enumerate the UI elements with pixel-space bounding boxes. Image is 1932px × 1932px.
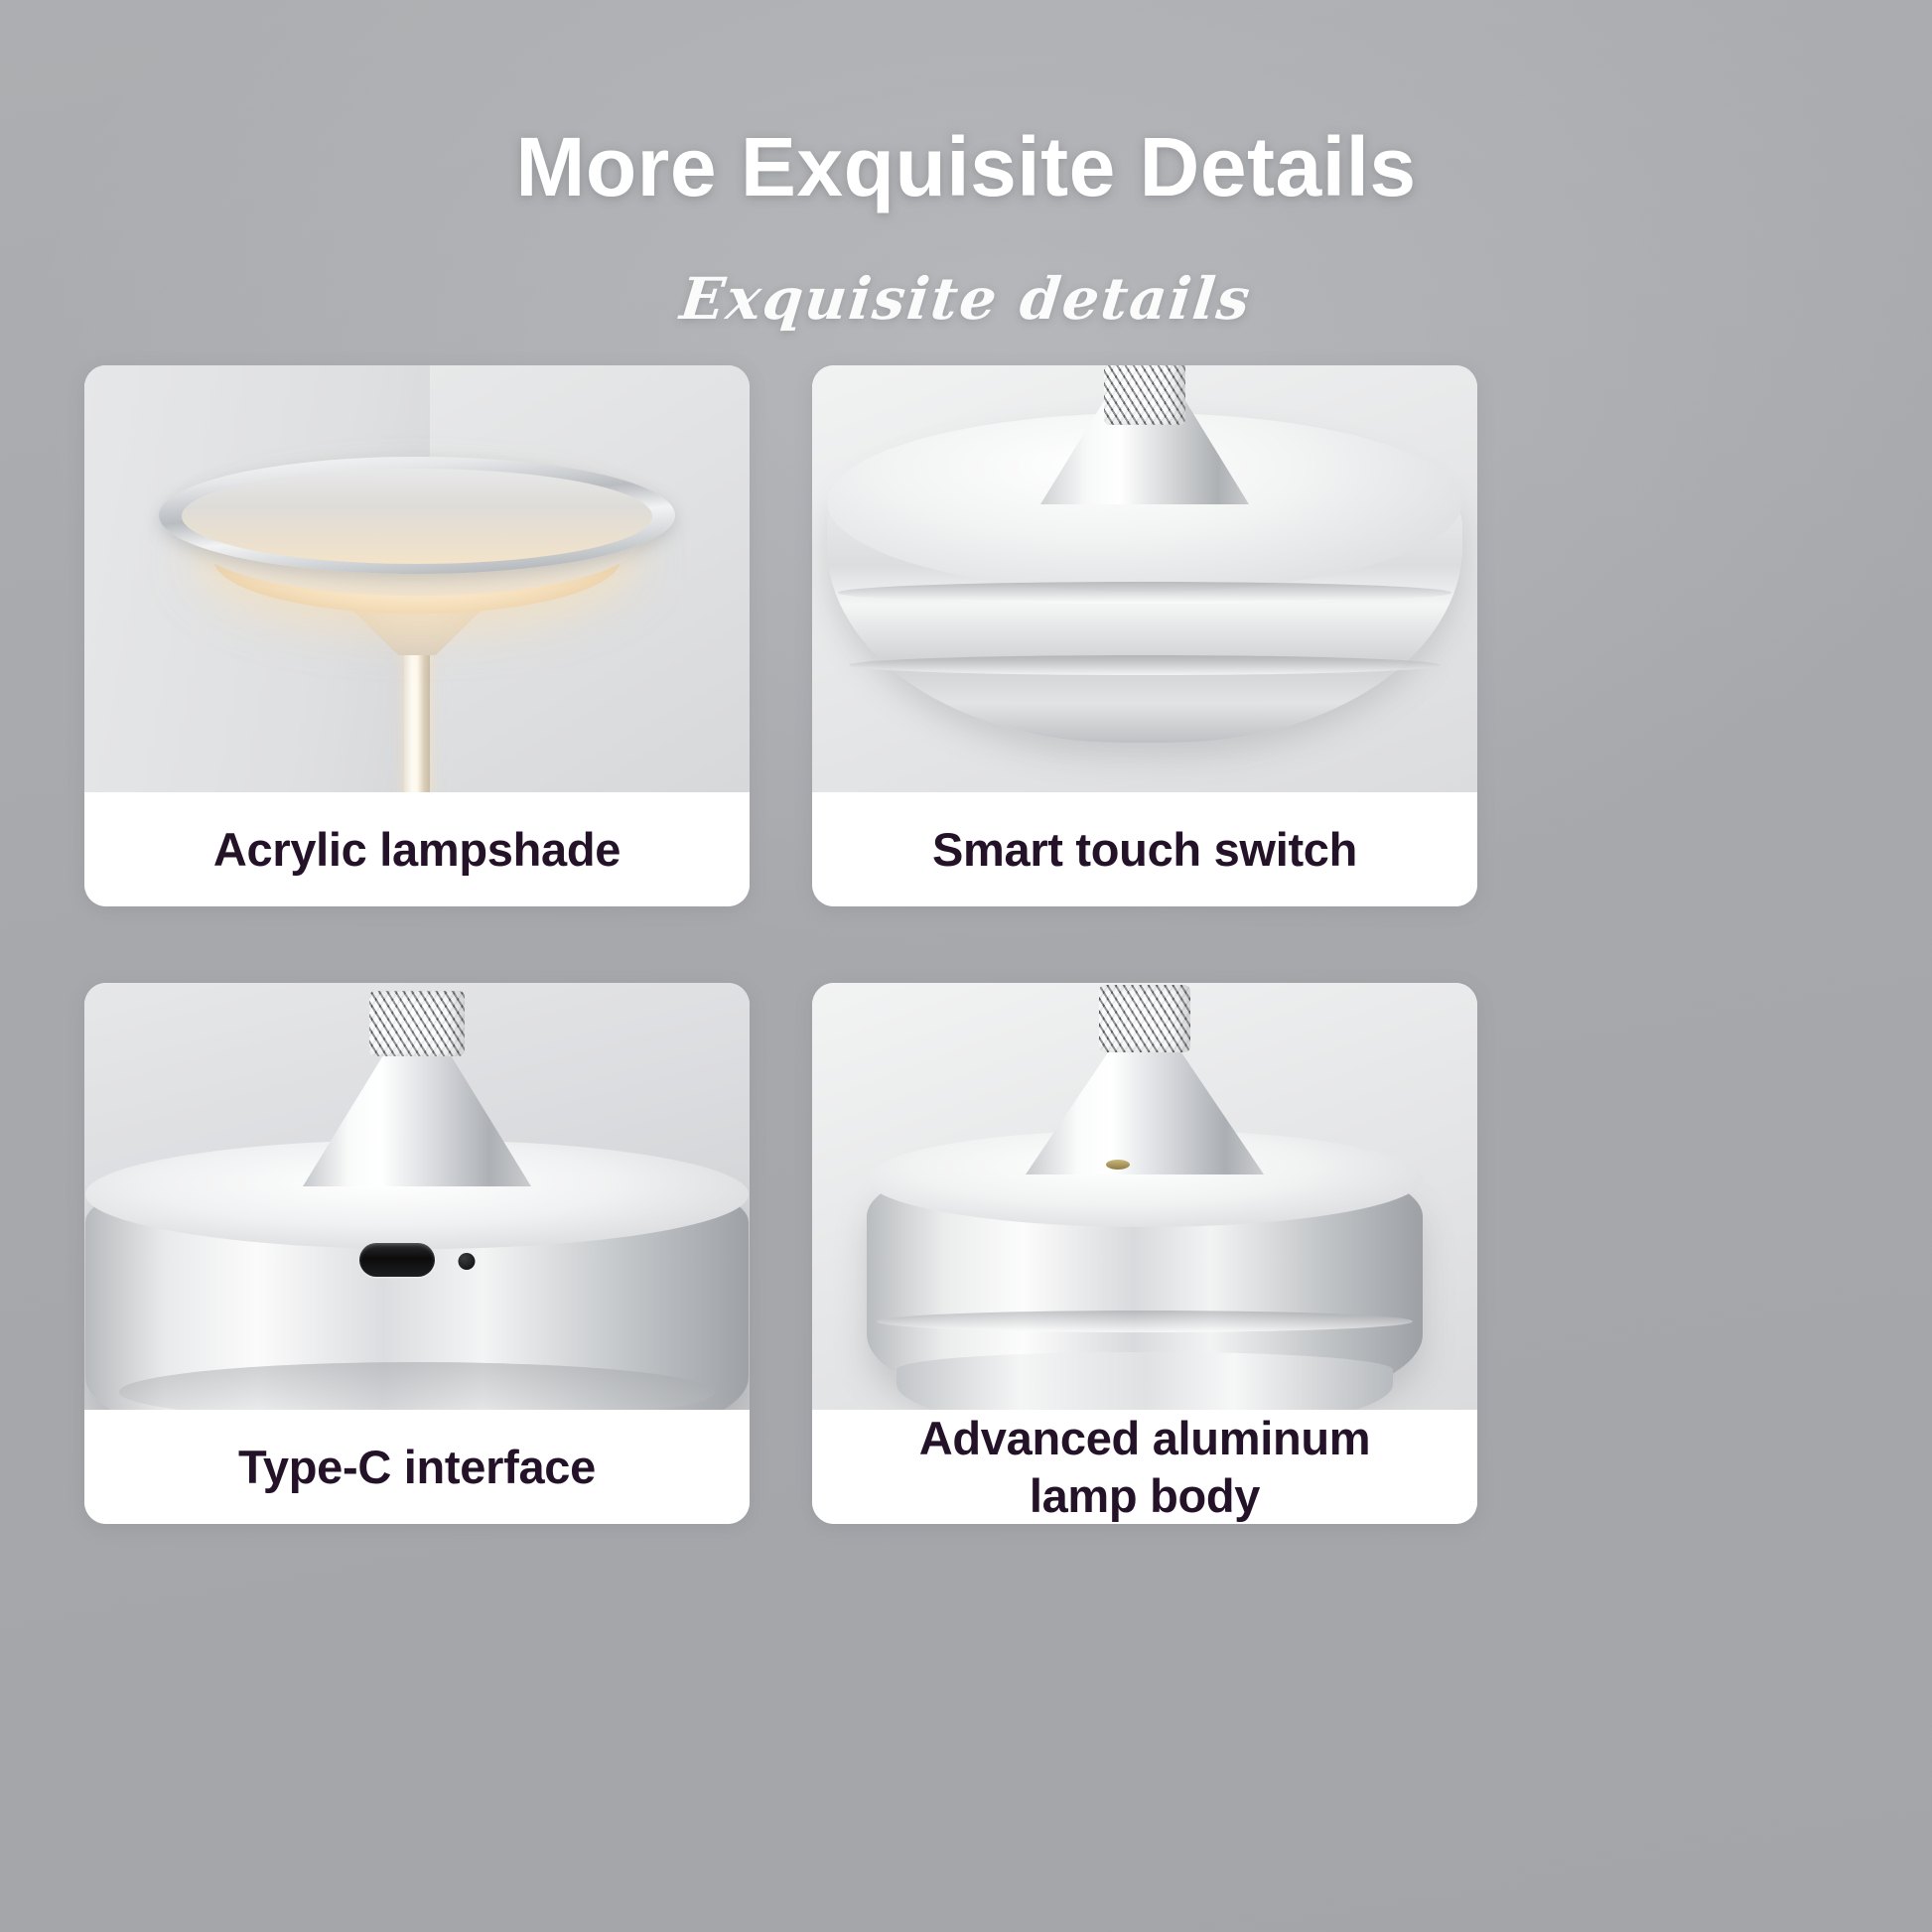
feature-card-grid: Acrylic lampshade Smart touch switch [84, 365, 1477, 1524]
product-detail-page: More Exquisite Details Exquisite details… [0, 0, 1932, 1932]
aluminum-body-photo [812, 983, 1477, 1410]
feature-card-type-c-interface[interactable]: Type-C interface [84, 983, 750, 1524]
feature-card-aluminum-lamp-body[interactable]: Advanced aluminum lamp body [812, 983, 1477, 1524]
touch-switch-photo [812, 365, 1477, 792]
card-caption-text: Type-C interface [238, 1439, 596, 1495]
lamp-neck-cone [1026, 1040, 1264, 1174]
lampshade-photo [84, 365, 750, 792]
type-c-photo [84, 983, 750, 1410]
knurled-stem-icon [1099, 985, 1190, 1052]
card-caption: Type-C interface [84, 1410, 750, 1524]
card-caption-line-1: Advanced aluminum [919, 1412, 1371, 1464]
card-caption-text: Advanced aluminum lamp body [919, 1410, 1371, 1524]
card-caption: Advanced aluminum lamp body [812, 1410, 1477, 1524]
indicator-led-icon [459, 1253, 476, 1270]
usb-type-c-port-icon [359, 1243, 435, 1277]
base-groove-upper [838, 582, 1451, 604]
lampshade-rim-inner [182, 469, 652, 564]
card-caption-text: Smart touch switch [932, 821, 1357, 878]
lamp-body-foot [897, 1352, 1393, 1410]
knurled-stem-icon [1104, 365, 1185, 425]
card-caption-text: Acrylic lampshade [213, 821, 621, 878]
knurled-stem-icon [369, 991, 465, 1056]
page-subtitle: Exquisite details [0, 265, 1932, 333]
page-header: More Exquisite Details Exquisite details [0, 0, 1932, 333]
page-title: More Exquisite Details [0, 119, 1932, 215]
card-caption: Acrylic lampshade [84, 792, 750, 906]
lamp-neck-cone [303, 1037, 531, 1186]
base-groove-lower [849, 655, 1441, 675]
card-caption-line-2: lamp body [1030, 1469, 1260, 1522]
brass-screw-icon [1106, 1160, 1130, 1170]
card-caption: Smart touch switch [812, 792, 1477, 906]
feature-card-acrylic-lampshade[interactable]: Acrylic lampshade [84, 365, 750, 906]
feature-card-smart-touch-switch[interactable]: Smart touch switch [812, 365, 1477, 906]
lamp-body-groove [877, 1311, 1413, 1332]
